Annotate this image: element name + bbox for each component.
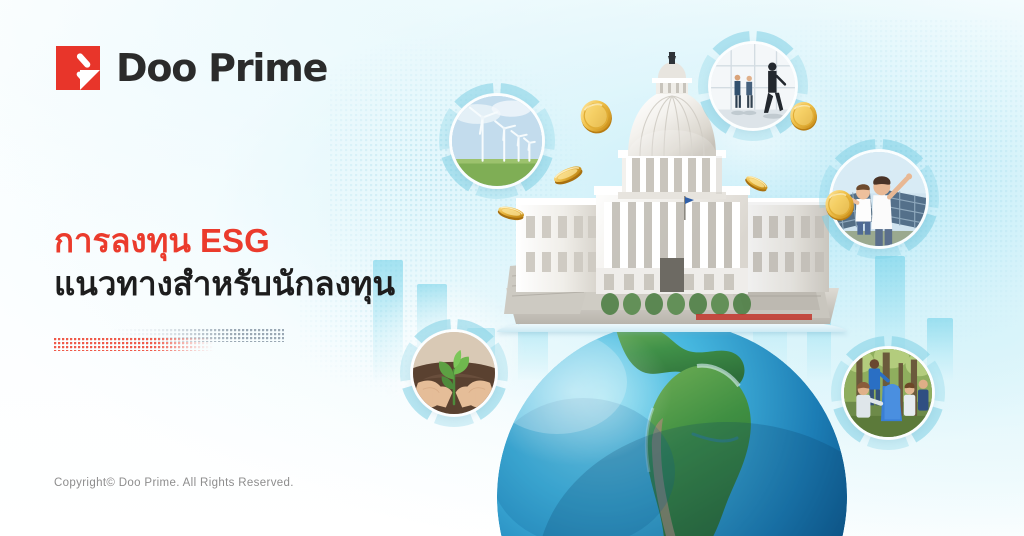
gold-coin-face: [786, 98, 822, 134]
copyright-text: Copyright© Doo Prime. All Rights Reserve…: [54, 477, 294, 489]
headline-line-1: การลงทุน ESG: [54, 222, 474, 261]
decorative-halftone-rule: [54, 326, 284, 354]
earth-hemisphere: [497, 322, 847, 536]
badge-forest-volunteers[interactable]: [830, 335, 946, 451]
headline-line-2: แนวทางสำหรับนักลงทุน: [54, 265, 474, 304]
badge-photo: [844, 349, 932, 437]
halftone-rule-red: [54, 338, 214, 351]
badge-photo: [452, 96, 542, 186]
doo-prime-pen-square-icon: [56, 46, 100, 90]
badge-photo: [413, 332, 495, 414]
badge-wind-turbines[interactable]: [438, 82, 556, 200]
badge-seedling-hands[interactable]: [399, 318, 509, 428]
banner-canvas: Doo Prime การลงทุน ESG แนวทางสำหรับนักลง…: [0, 0, 1024, 536]
headline-block: การลงทุน ESG แนวทางสำหรับนักลงทุน: [54, 222, 474, 304]
gold-coin-face: [820, 185, 859, 224]
badge-photo: [711, 44, 795, 128]
brand-logo[interactable]: Doo Prime: [56, 46, 327, 90]
brand-logo-text: Doo Prime: [116, 49, 327, 87]
